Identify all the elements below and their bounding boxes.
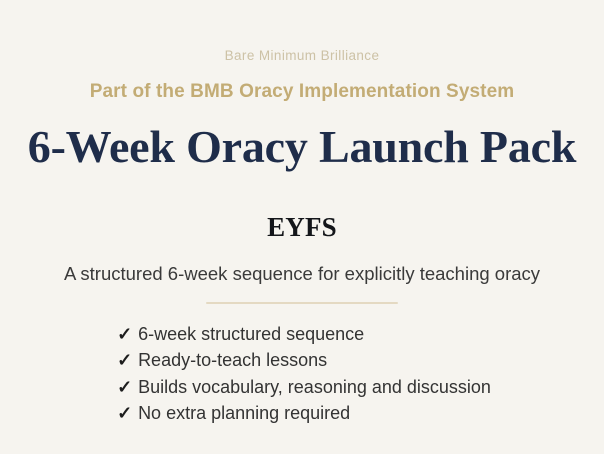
system-tagline: Part of the BMB Oracy Implementation Sys…	[90, 81, 515, 104]
list-item: ✓No extra planning required	[117, 400, 350, 426]
list-item-label: No extra planning required	[138, 400, 350, 426]
list-item-label: 6-week structured sequence	[138, 321, 364, 347]
cover-slide: Bare Minimum Brilliance Part of the BMB …	[0, 0, 604, 454]
list-item: ✓Builds vocabulary, reasoning and discus…	[117, 374, 491, 400]
list-item-label: Ready-to-teach lessons	[138, 347, 327, 373]
divider	[206, 302, 398, 304]
subtitle: A structured 6-week sequence for explici…	[37, 261, 567, 287]
check-icon: ✓	[117, 374, 138, 400]
page-title: 6-Week Oracy Launch Pack	[28, 123, 576, 171]
list-item-label: Builds vocabulary, reasoning and discuss…	[138, 374, 491, 400]
check-icon: ✓	[117, 400, 138, 426]
list-item: ✓6-week structured sequence	[117, 321, 364, 347]
brand-name: Bare Minimum Brilliance	[225, 48, 380, 64]
check-icon: ✓	[117, 321, 138, 347]
key-stage-label: EYFS	[267, 213, 337, 243]
list-item: ✓Ready-to-teach lessons	[117, 347, 327, 373]
benefits-list: ✓6-week structured sequence✓Ready-to-tea…	[113, 321, 491, 426]
check-icon: ✓	[117, 347, 138, 373]
